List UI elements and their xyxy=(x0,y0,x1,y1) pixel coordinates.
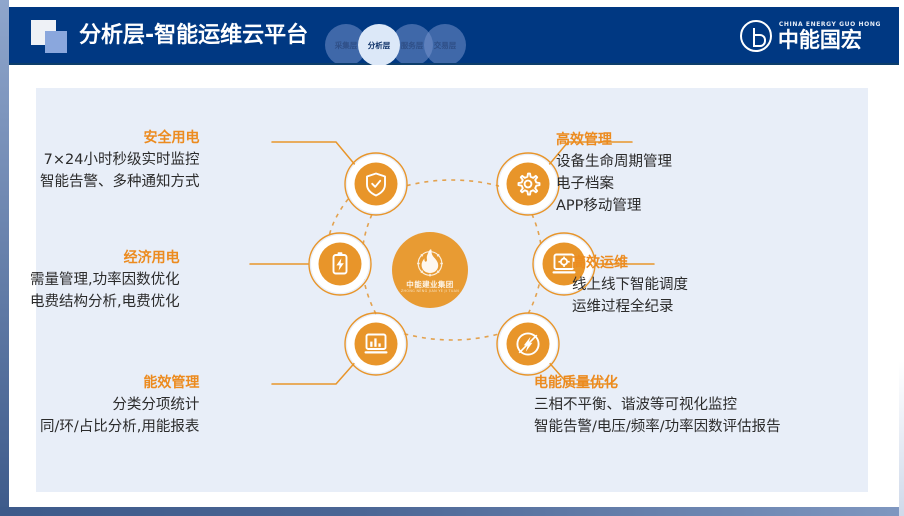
feature-line: 智能告警/电压/频率/功率因数评估报告 xyxy=(534,416,781,438)
circle-bolt-logo-icon xyxy=(740,20,772,52)
feature-block-energy-efficiency: 能效管理 分类分项统计 同/环/占比分析,用能报表 xyxy=(40,373,199,438)
feature-block-safe-power: 安全用电 7×24小时秒级实时监控 智能告警、多种通知方式 xyxy=(40,128,200,193)
feature-line: 7×24小时秒级实时监控 xyxy=(40,149,200,171)
node-energy-efficiency[interactable] xyxy=(345,313,407,375)
feature-block-power-quality: 电能质量优化 三相不平衡、谐波等可视化监控 智能告警/电压/频率/功率因数评估报… xyxy=(534,373,781,438)
slide-header: 分析层-智能运维云平台 采集层 服务层 交易层 分析层 CHINA ENERGY… xyxy=(9,7,899,65)
feature-line: 电子档案 xyxy=(556,173,672,195)
node-economic-power[interactable] xyxy=(309,233,371,295)
feature-title: 电能质量优化 xyxy=(534,373,781,394)
layer-stack: 采集层 服务层 交易层 分析层 xyxy=(325,24,475,65)
frame-right-edge xyxy=(899,0,904,516)
node-power-quality[interactable] xyxy=(497,313,559,375)
layer-circle-label: 分析层 xyxy=(368,40,391,51)
feature-title: 高效运维 xyxy=(572,253,688,274)
layer-circle-label: 服务层 xyxy=(401,40,424,51)
feature-line: 分类分项统计 xyxy=(40,394,199,416)
company-logo: CHINA ENERGY GUO HONG 中能国宏 xyxy=(740,19,881,53)
feature-block-economic-power: 经济用电 需量管理,功率因数优化 电费结构分析,电费优化 xyxy=(30,248,180,313)
feature-line: 智能告警、多种通知方式 xyxy=(40,171,200,193)
feature-line: 设备生命周期管理 xyxy=(556,151,672,173)
feature-line: 线上线下智能调度 xyxy=(572,274,688,296)
feature-title: 经济用电 xyxy=(30,248,180,269)
center-logo-english: ZHONG NENG JIAN YE JI TUAN xyxy=(401,289,459,294)
layer-circle-analysis[interactable]: 分析层 xyxy=(358,24,400,65)
layer-circle-label: 采集层 xyxy=(335,40,358,51)
node-safe-power[interactable] xyxy=(345,153,407,215)
feature-line: 同/环/占比分析,用能报表 xyxy=(40,416,199,438)
frame-left-edge xyxy=(0,0,9,516)
slide: 分析层-智能运维云平台 采集层 服务层 交易层 分析层 CHINA ENERGY… xyxy=(0,0,904,516)
logo-chinese-name: 中能国宏 xyxy=(778,29,881,52)
layer-circle-transaction[interactable]: 交易层 xyxy=(424,24,466,65)
node-efficient-management[interactable] xyxy=(497,153,559,215)
feature-line: APP移动管理 xyxy=(556,195,672,217)
page-title: 分析层-智能运维云平台 xyxy=(79,21,308,51)
header-square-blue-icon xyxy=(45,31,67,53)
feature-line: 需量管理,功率因数优化 xyxy=(30,269,180,291)
feature-block-efficient-operations: 高效运维 线上线下智能调度 运维过程全纪录 xyxy=(572,253,688,318)
feature-line: 三相不平衡、谐波等可视化监控 xyxy=(534,394,781,416)
feature-title: 高效管理 xyxy=(556,130,672,151)
flame-gear-logo-icon xyxy=(413,248,447,278)
frame-bottom-edge xyxy=(0,507,904,516)
feature-title: 安全用电 xyxy=(40,128,200,149)
feature-line: 运维过程全纪录 xyxy=(572,296,688,318)
layer-circle-label: 交易层 xyxy=(434,40,457,51)
feature-line: 电费结构分析,电费优化 xyxy=(30,291,180,313)
feature-block-efficient-management: 高效管理 设备生命周期管理 电子档案 APP移动管理 xyxy=(556,130,672,217)
center-logo-chinese: 中能建业集团 xyxy=(406,280,453,289)
feature-title: 能效管理 xyxy=(40,373,199,394)
center-group-logo: 中能建业集团 ZHONG NENG JIAN YE JI TUAN xyxy=(392,232,468,308)
